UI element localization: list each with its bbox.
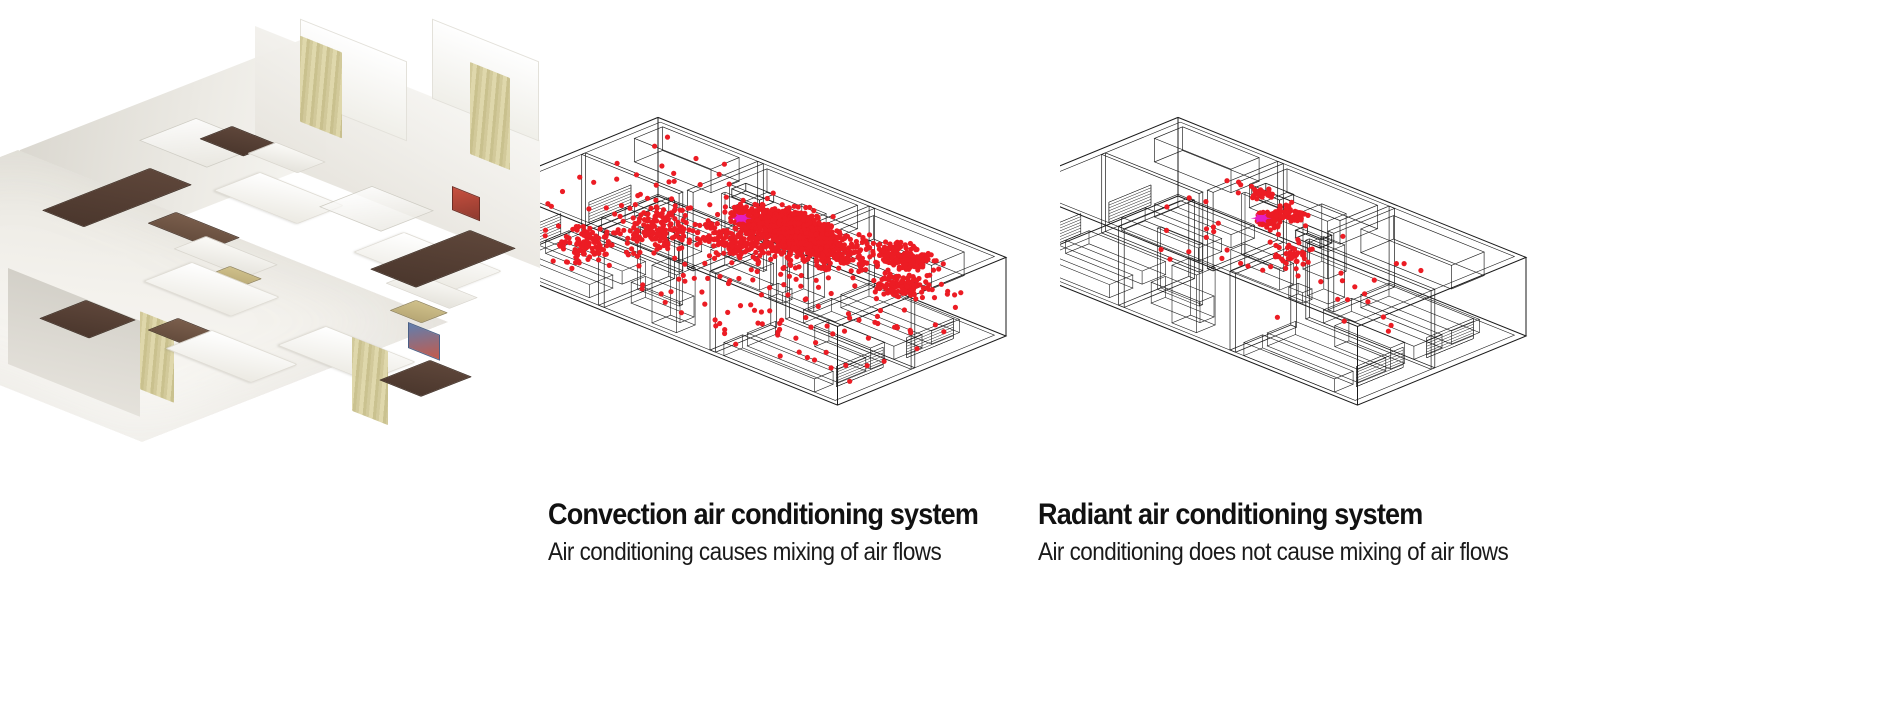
convection-caption: Convection air conditioning system Air c… [548, 498, 1048, 567]
radiant-simulation-panel [1060, 0, 1580, 500]
radiant-wireframe-svg [1060, 0, 1580, 500]
figure-root: Convection air conditioning system Air c… [0, 0, 1880, 720]
convection-simulation-panel [540, 0, 1060, 500]
curtain-back-1 [300, 36, 342, 139]
wireframe-geometry [1060, 117, 1526, 405]
radiant-subtitle: Air conditioning does not cause mixing o… [1038, 537, 1506, 567]
radiant-caption: Radiant air conditioning system Air cond… [1038, 498, 1558, 567]
room-render-panel [0, 0, 540, 500]
particle-cloud-convection [543, 135, 964, 384]
convection-title: Convection air conditioning system [548, 498, 998, 532]
convection-wireframe-svg [540, 0, 1060, 500]
curtain-back-2 [470, 62, 510, 170]
convection-subtitle: Air conditioning causes mixing of air fl… [548, 537, 998, 567]
wall-picture-2 [408, 322, 440, 361]
radiant-title: Radiant air conditioning system [1038, 498, 1506, 532]
room-render-stage [0, 0, 540, 500]
